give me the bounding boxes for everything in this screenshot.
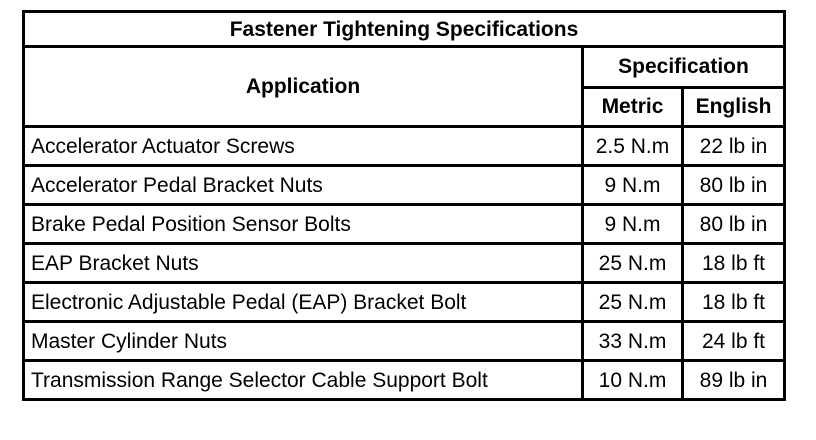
cell-application: EAP Bracket Nuts <box>24 244 583 283</box>
table-row: Master Cylinder Nuts 33 N.m 24 lb ft <box>24 322 785 361</box>
cell-metric: 33 N.m <box>583 322 683 361</box>
cell-english: 18 lb ft <box>683 283 785 322</box>
cell-metric: 9 N.m <box>583 166 683 205</box>
cell-metric: 25 N.m <box>583 244 683 283</box>
table-title-row: Fastener Tightening Specifications <box>24 12 785 47</box>
cell-application: Brake Pedal Position Sensor Bolts <box>24 205 583 244</box>
cell-application: Master Cylinder Nuts <box>24 322 583 361</box>
cell-english: 80 lb in <box>683 166 785 205</box>
cell-metric: 10 N.m <box>583 361 683 400</box>
cell-metric: 25 N.m <box>583 283 683 322</box>
table-row: Transmission Range Selector Cable Suppor… <box>24 361 785 400</box>
table-row: EAP Bracket Nuts 25 N.m 18 lb ft <box>24 244 785 283</box>
table-row: Accelerator Pedal Bracket Nuts 9 N.m 80 … <box>24 166 785 205</box>
table-row: Accelerator Actuator Screws 2.5 N.m 22 l… <box>24 127 785 166</box>
table-header-row-1: Application Specification <box>24 47 785 88</box>
cell-english: 22 lb in <box>683 127 785 166</box>
column-header-metric: Metric <box>583 87 683 126</box>
table-body: Fastener Tightening Specifications Appli… <box>24 12 785 400</box>
cell-english: 18 lb ft <box>683 244 785 283</box>
cell-application: Accelerator Pedal Bracket Nuts <box>24 166 583 205</box>
table-title: Fastener Tightening Specifications <box>24 12 785 47</box>
cell-application: Accelerator Actuator Screws <box>24 127 583 166</box>
cell-application: Transmission Range Selector Cable Suppor… <box>24 361 583 400</box>
column-header-specification: Specification <box>583 47 785 88</box>
specification-table-page: Fastener Tightening Specifications Appli… <box>0 0 816 440</box>
cell-english: 80 lb in <box>683 205 785 244</box>
table-row: Electronic Adjustable Pedal (EAP) Bracke… <box>24 283 785 322</box>
cell-application: Electronic Adjustable Pedal (EAP) Bracke… <box>24 283 583 322</box>
fastener-tightening-specifications-table: Fastener Tightening Specifications Appli… <box>22 10 786 401</box>
table-row: Brake Pedal Position Sensor Bolts 9 N.m … <box>24 205 785 244</box>
column-header-english: English <box>683 87 785 126</box>
column-header-application: Application <box>24 47 583 127</box>
cell-metric: 2.5 N.m <box>583 127 683 166</box>
cell-english: 89 lb in <box>683 361 785 400</box>
cell-metric: 9 N.m <box>583 205 683 244</box>
cell-english: 24 lb ft <box>683 322 785 361</box>
